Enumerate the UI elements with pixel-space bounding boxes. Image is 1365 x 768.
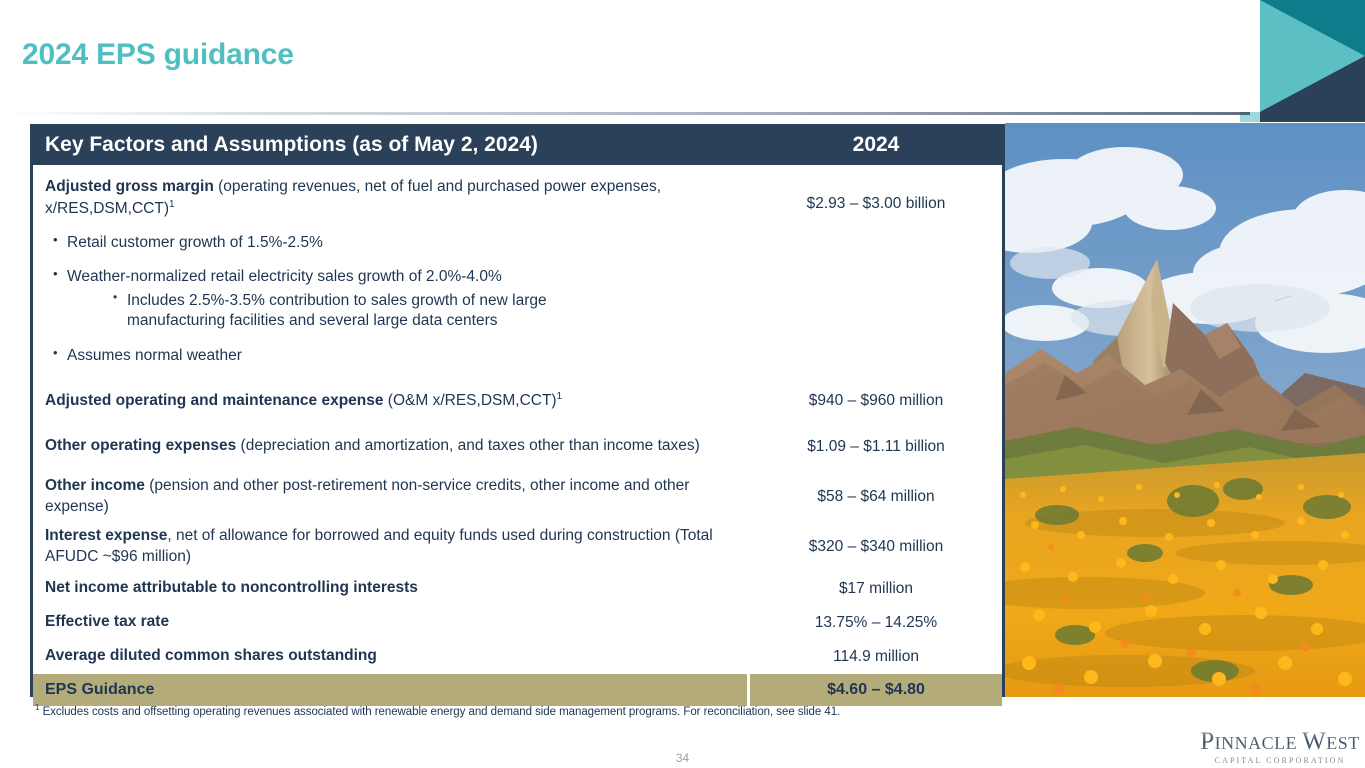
- page-number: 34: [0, 751, 1365, 765]
- row-label-adjusted-om-expense: Adjusted operating and maintenance expen…: [33, 390, 750, 412]
- list-item: Assumes normal weather: [45, 346, 1002, 366]
- table-header-col2: 2024: [750, 133, 1002, 157]
- row-value-noncontrolling-interests: $17 million: [750, 580, 1002, 598]
- eps-guidance-value: $4.60 – $4.80: [750, 681, 1002, 699]
- logo-w: W: [1302, 728, 1326, 755]
- row-label-average-diluted-shares: Average diluted common shares outstandin…: [33, 646, 750, 667]
- row-value-interest-expense: $320 – $340 million: [750, 538, 1002, 556]
- assumption-bullet-list: Retail customer growth of 1.5%-2.5% Weat…: [33, 233, 1002, 366]
- row-label-bold: Other operating expenses: [45, 437, 236, 454]
- logo-wordmark: PINNACLE WEST: [1196, 729, 1364, 754]
- row-value-average-diluted-shares: 114.9 million: [750, 648, 1002, 666]
- footnote-marker: 1: [557, 391, 563, 402]
- footnote-marker: 1: [35, 703, 39, 712]
- row-label-detail: (O&M x/RES,DSM,CCT): [384, 392, 557, 409]
- row-label-bold: Adjusted operating and maintenance expen…: [45, 392, 384, 409]
- table-row: Net income attributable to noncontrollin…: [33, 572, 1002, 606]
- row-value-other-income: $58 – $64 million: [750, 488, 1002, 506]
- slide: 2024 EPS guidance Key Factors and Assump…: [0, 0, 1365, 768]
- chevron-arrow-icon: [1240, 0, 1365, 122]
- row-label-bold: Other income: [45, 477, 145, 494]
- row-label-bold: Interest expense: [45, 527, 167, 544]
- row-label-bold: Adjusted gross margin: [45, 178, 214, 195]
- row-value-adjusted-om-expense: $940 – $960 million: [750, 392, 1002, 410]
- row-label-bold: Average diluted common shares outstandin…: [45, 647, 377, 664]
- table-row: Adjusted operating and maintenance expen…: [33, 380, 1002, 422]
- list-item: Weather-normalized retail electricity sa…: [45, 267, 1002, 331]
- page-title: 2024 EPS guidance: [22, 38, 294, 72]
- row-label-effective-tax-rate: Effective tax rate: [33, 612, 750, 633]
- table-row: Other operating expenses (depreciation a…: [33, 422, 1002, 472]
- sub-line-1: Includes 2.5%-3.5% contribution to sales…: [127, 292, 547, 309]
- row-label-adjusted-gross-margin: Adjusted gross margin (operating revenue…: [33, 177, 750, 220]
- row-label-bold: Net income attributable to noncontrollin…: [45, 579, 418, 596]
- logo-tagline: CAPITAL CORPORATION: [1196, 756, 1364, 765]
- table-header-col1: Key Factors and Assumptions (as of May 2…: [33, 133, 750, 157]
- footnote-text: Excludes costs and offsetting operating …: [43, 706, 841, 718]
- eps-guidance-row: EPS Guidance $4.60 – $4.80: [33, 674, 1002, 706]
- logo-innacle: INNACLE: [1215, 733, 1303, 753]
- row-label-bold: Effective tax rate: [45, 613, 169, 630]
- corner-chevron-decoration: [1240, 0, 1365, 122]
- row-value-other-operating-expenses: $1.09 – $1.11 billion: [750, 438, 1002, 456]
- row-label-other-operating-expenses: Other operating expenses (depreciation a…: [33, 436, 750, 457]
- row-label-noncontrolling-interests: Net income attributable to noncontrollin…: [33, 578, 750, 599]
- footnote: 1 Excludes costs and offsetting operatin…: [35, 703, 840, 718]
- guidance-table: Key Factors and Assumptions (as of May 2…: [30, 124, 1005, 697]
- logo-est: EST: [1326, 733, 1360, 753]
- table-row: Other income (pension and other post-ret…: [33, 472, 1002, 522]
- table-row: Adjusted gross margin (operating revenue…: [33, 165, 1002, 233]
- pinnacle-west-logo: PINNACLE WEST CAPITAL CORPORATION: [1196, 729, 1364, 765]
- footnote-marker: 1: [169, 199, 175, 210]
- table-row: Average diluted common shares outstandin…: [33, 640, 1002, 674]
- table-row: Effective tax rate 13.75% – 14.25%: [33, 606, 1002, 640]
- row-label-other-income: Other income (pension and other post-ret…: [33, 476, 750, 518]
- list-item-sub: Includes 2.5%-3.5% contribution to sales…: [67, 291, 1002, 331]
- photo-illustration: [1005, 123, 1365, 697]
- desert-landscape-photo: [1005, 123, 1365, 697]
- table-row: Interest expense, net of allowance for b…: [33, 522, 1002, 572]
- sub-line-2: manufacturing facilities and several lar…: [127, 311, 1002, 331]
- title-divider-rule: [0, 112, 1250, 115]
- logo-p: P: [1200, 728, 1214, 755]
- row-value-adjusted-gross-margin: $2.93 – $3.00 billion: [750, 177, 1002, 213]
- row-value-effective-tax-rate: 13.75% – 14.25%: [750, 614, 1002, 632]
- row-label-detail: (depreciation and amortization, and taxe…: [236, 437, 700, 454]
- list-item: Retail customer growth of 1.5%-2.5%: [45, 233, 1002, 253]
- eps-guidance-label: EPS Guidance: [33, 674, 750, 706]
- table-header-row: Key Factors and Assumptions (as of May 2…: [33, 124, 1002, 165]
- list-item-label: Weather-normalized retail electricity sa…: [67, 268, 502, 285]
- row-label-interest-expense: Interest expense, net of allowance for b…: [33, 526, 750, 568]
